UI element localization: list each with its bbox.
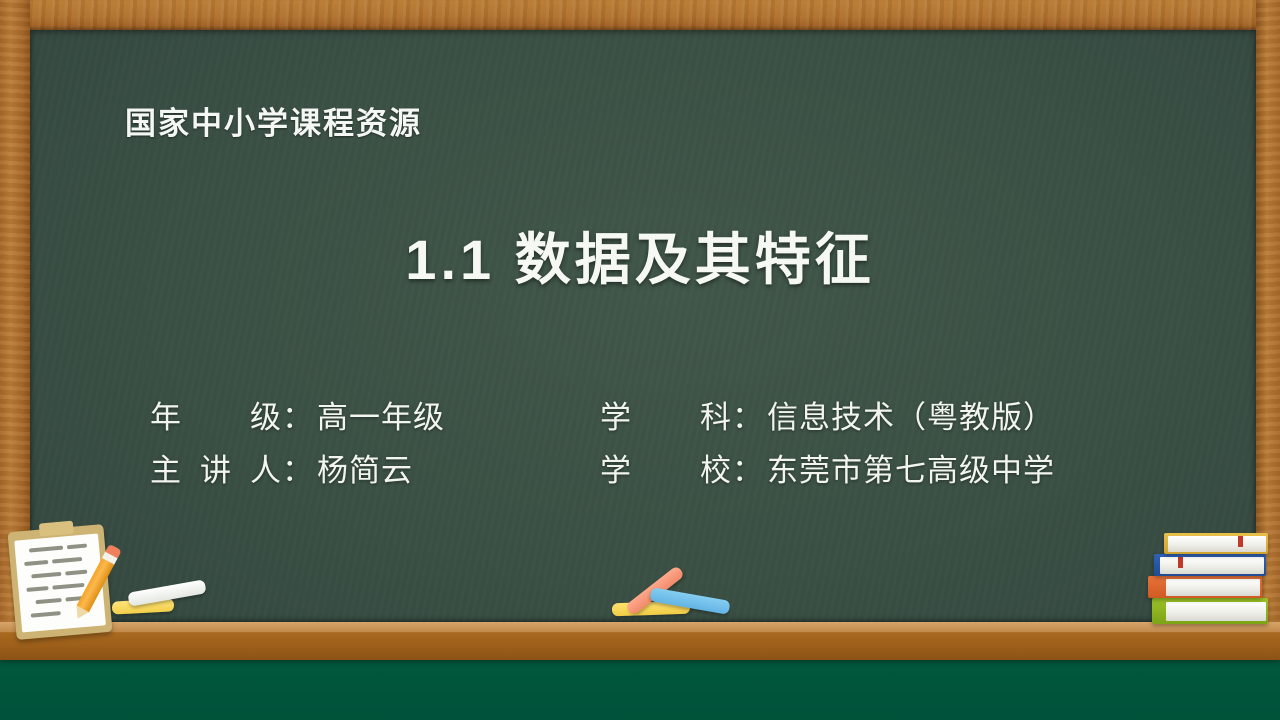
meta-grade-label: 年级 [150, 392, 282, 445]
brand-title: 国家中小学课程资源 [125, 98, 422, 143]
meta-subject: 学科 ： 信息技术（粤教版） [600, 392, 1055, 445]
meta-school-colon: ： [732, 445, 763, 498]
meta-grade-colon: ： [282, 392, 313, 445]
chalk-ledge [0, 622, 1280, 660]
book-blue [1154, 554, 1266, 576]
slide-canvas: 国家中小学课程资源 1.1 数据及其特征 年级 ： 高一年级 学科 ： 信息技术… [0, 0, 1280, 720]
meta-row: 年级 ： 高一年级 学科 ： 信息技术（粤教版） [150, 392, 1150, 445]
meta-school-label: 学校 [600, 445, 732, 498]
meta-subject-value: 信息技术（粤教版） [767, 392, 1055, 445]
meta-subject-colon: ： [732, 392, 763, 445]
background-floor [0, 660, 1280, 720]
meta-school-value: 东莞市第七高级中学 [767, 445, 1055, 498]
meta-subject-label: 学科 [600, 392, 732, 445]
meta-presenter-colon: ： [282, 445, 313, 498]
meta-presenter-value: 杨简云 [317, 445, 413, 498]
course-meta: 年级 ： 高一年级 学科 ： 信息技术（粤教版） 主讲人 ： 杨简云 学校 ： … [150, 392, 1150, 498]
meta-grade: 年级 ： 高一年级 [150, 392, 600, 445]
meta-grade-value: 高一年级 [317, 392, 445, 445]
book-stack-icon [1146, 533, 1268, 633]
book-orange [1148, 576, 1262, 598]
book-tan [1164, 533, 1268, 554]
book-green [1152, 598, 1268, 624]
meta-row: 主讲人 ： 杨简云 学校 ： 东莞市第七高级中学 [150, 445, 1150, 498]
meta-presenter-label: 主讲人 [150, 445, 282, 498]
meta-school: 学校 ： 东莞市第七高级中学 [600, 445, 1055, 498]
meta-presenter: 主讲人 ： 杨简云 [150, 445, 600, 498]
page-title: 1.1 数据及其特征 [0, 215, 1280, 296]
frame-top-rail [0, 0, 1280, 30]
